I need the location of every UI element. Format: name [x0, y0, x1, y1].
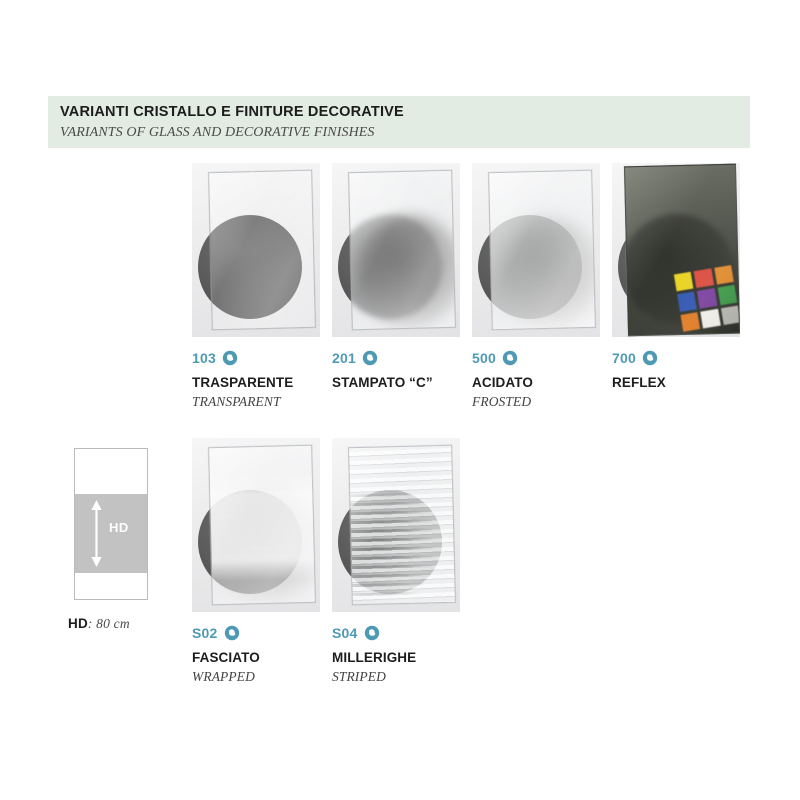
hd-caption-key: HD	[68, 616, 88, 631]
sample-name-it: REFLEX	[612, 375, 740, 391]
sample-code: S04	[332, 625, 358, 641]
sample-card-201[interactable]: 201 STAMPATO “C”	[332, 163, 460, 393]
sample-name-it: STAMPATO “C”	[332, 375, 460, 391]
sample-name-it: TRASPARENTE	[192, 375, 320, 391]
sample-name-en: FROSTED	[472, 393, 600, 410]
sample-code-line-s02: S02	[192, 624, 320, 642]
sample-image-s02	[192, 438, 320, 612]
sample-image-700	[612, 163, 740, 337]
mirrored-sphere	[624, 213, 735, 326]
sample-name-it: FASCIATO	[192, 650, 320, 666]
hd-panel-outline: HD	[74, 448, 148, 600]
finish-swatch-icon	[642, 350, 658, 366]
hd-caption-value: : 80 cm	[88, 616, 130, 631]
striped-sphere-smear	[350, 492, 449, 598]
glass-pane-transparent	[208, 170, 316, 330]
finish-swatch-icon	[364, 625, 380, 641]
color-checker-chart	[674, 265, 740, 332]
section-header-band: VARIANTI CRISTALLO E FINITURE DECORATIVE…	[48, 96, 750, 148]
sample-card-s02[interactable]: S02 FASCIATO WRAPPED	[192, 438, 320, 685]
sample-code-line-500: 500	[472, 349, 600, 367]
glass-pane-fasciato	[208, 445, 316, 605]
sample-card-103[interactable]: 103 TRASPARENTE TRANSPARENT	[192, 163, 320, 410]
glass-pane-acidato	[488, 170, 596, 330]
sample-name-en: TRANSPARENT	[192, 393, 320, 410]
wrapped-frost-band	[208, 474, 316, 581]
diffused-sphere	[214, 494, 316, 605]
hd-diagram: HD HD: 80 cm	[62, 448, 178, 632]
sample-code: 500	[472, 350, 496, 366]
sample-name-it: MILLERIGHE	[332, 650, 460, 666]
sample-name-en: STRIPED	[332, 668, 460, 685]
double-headed-vertical-arrow-icon	[89, 500, 104, 567]
sample-code-line-103: 103	[192, 349, 320, 367]
diffused-sphere	[352, 214, 456, 329]
sample-name-it: ACIDATO	[472, 375, 600, 391]
finish-swatch-icon	[222, 350, 238, 366]
sample-code: S02	[192, 625, 218, 641]
hd-band-label: HD	[109, 520, 129, 535]
glass-pane-reflex	[624, 164, 740, 337]
sample-card-700[interactable]: 700 REFLEX	[612, 163, 740, 393]
sample-image-s04	[332, 438, 460, 612]
sample-image-201	[332, 163, 460, 337]
hd-caption: HD: 80 cm	[68, 616, 178, 632]
diffused-sphere	[494, 219, 596, 330]
sample-code: 201	[332, 350, 356, 366]
sample-card-s04[interactable]: S04 MILLERIGHE STRIPED	[332, 438, 460, 685]
finish-swatch-icon	[502, 350, 518, 366]
sample-name-en: WRAPPED	[192, 668, 320, 685]
stripe-texture	[348, 445, 456, 605]
sample-code-line-201: 201	[332, 349, 460, 367]
sample-code-line-700: 700	[612, 349, 740, 367]
glass-pane-millerighe	[348, 445, 456, 605]
sample-code: 700	[612, 350, 636, 366]
finish-swatch-icon	[224, 625, 240, 641]
glass-pane-stampato	[348, 170, 456, 330]
sample-card-500[interactable]: 500 ACIDATO FROSTED	[472, 163, 600, 410]
sample-code-line-s04: S04	[332, 624, 460, 642]
finish-swatch-icon	[362, 350, 378, 366]
page-title: VARIANTI CRISTALLO E FINITURE DECORATIVE	[60, 103, 750, 121]
sample-image-500	[472, 163, 600, 337]
sample-image-103	[192, 163, 320, 337]
page-subtitle: VARIANTS OF GLASS AND DECORATIVE FINISHE…	[60, 123, 750, 142]
sample-code: 103	[192, 350, 216, 366]
